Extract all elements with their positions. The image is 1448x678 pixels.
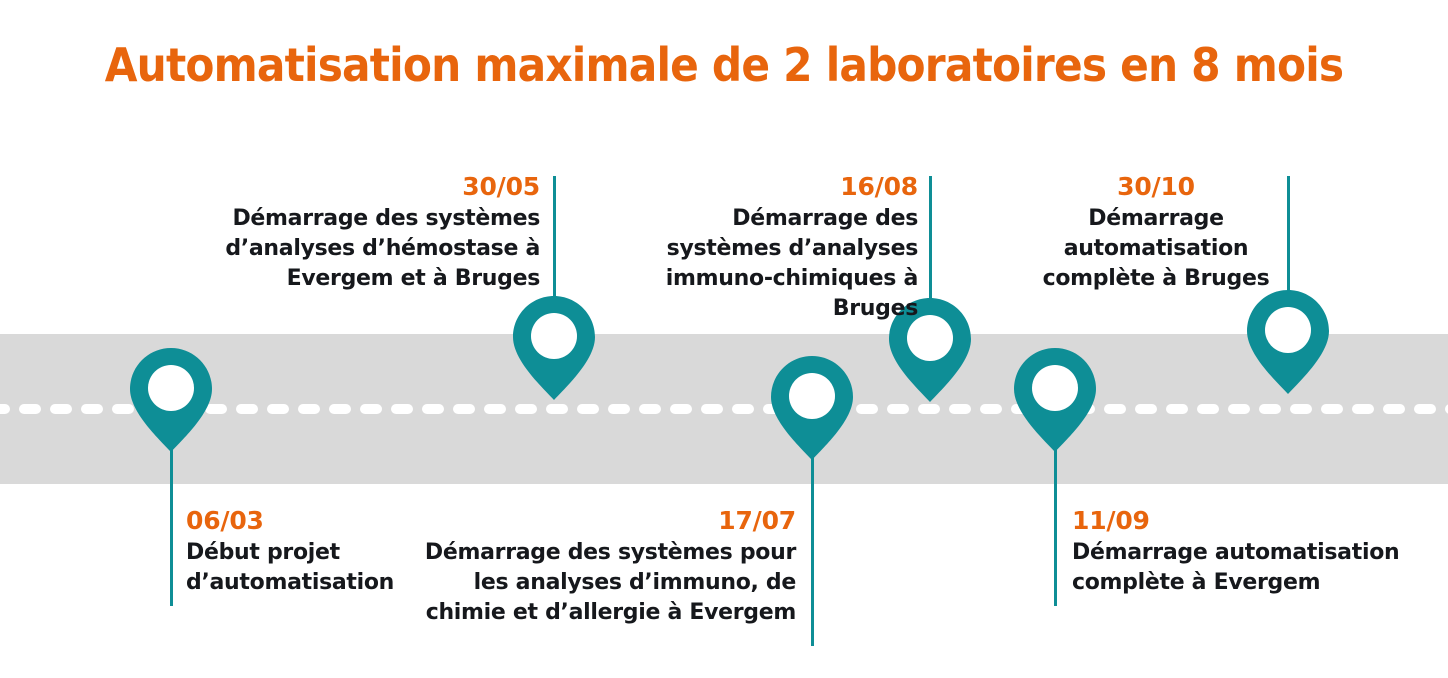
road-dash — [267, 404, 289, 414]
road-dash — [81, 404, 103, 414]
road-dash — [1228, 404, 1250, 414]
road-dash — [1135, 404, 1157, 414]
page-title: Automatisation maximale de 2 laboratoire… — [58, 38, 1390, 92]
connector-stem-30-05 — [553, 176, 556, 316]
map-pin-17-07 — [771, 356, 853, 460]
road-dash — [887, 404, 909, 414]
milestone-label-30-10: 30/10 Démarrage automatisation complète … — [1036, 170, 1276, 294]
milestone-label-30-05: 30/05 Démarrage des systèmes d’analyses … — [120, 170, 540, 294]
road-dash — [732, 404, 754, 414]
road-dash — [1259, 404, 1281, 414]
road-dash — [701, 404, 723, 414]
road-dash — [19, 404, 41, 414]
connector-stem-06-03 — [170, 448, 173, 606]
connector-stem-11-09 — [1054, 448, 1057, 606]
road-dash — [1166, 404, 1188, 414]
map-pin-11-09 — [1014, 348, 1096, 452]
road-dash — [918, 404, 940, 414]
milestone-label-17-07: 17/07 Démarrage des systèmes pour les an… — [400, 504, 796, 628]
road-dash — [1414, 404, 1436, 414]
milestone-date: 11/09 — [1072, 504, 1402, 538]
road-dash — [577, 404, 599, 414]
road-dash — [0, 404, 10, 414]
connector-stem-30-10 — [1287, 176, 1290, 292]
milestone-date: 30/10 — [1036, 170, 1276, 204]
road-dash — [1352, 404, 1374, 414]
milestone-text: Démarrage automatisation complète à Ever… — [1072, 538, 1402, 598]
road-dash — [856, 404, 878, 414]
milestone-date: 17/07 — [400, 504, 796, 538]
road-dash — [484, 404, 506, 414]
road-dash — [329, 404, 351, 414]
milestone-text: Démarrage des systèmes d’analyses immuno… — [620, 204, 918, 324]
road-dash — [608, 404, 630, 414]
milestone-text: Démarrage automatisation complète à Brug… — [1036, 204, 1276, 294]
road-dash — [360, 404, 382, 414]
map-pin-30-05 — [513, 296, 595, 400]
road-dash — [422, 404, 444, 414]
connector-stem-16-08 — [929, 176, 932, 300]
milestone-date: 30/05 — [120, 170, 540, 204]
map-pin-06-03 — [130, 348, 212, 452]
timeline-infographic: Automatisation maximale de 2 laboratoire… — [0, 0, 1448, 678]
road-dash — [670, 404, 692, 414]
connector-stem-17-07 — [811, 456, 814, 646]
milestone-label-11-09: 11/09 Démarrage automatisation complète … — [1072, 504, 1402, 598]
milestone-text: Démarrage des systèmes pour les analyses… — [400, 538, 796, 628]
milestone-label-16-08: 16/08 Démarrage des systèmes d’analyses … — [620, 170, 918, 324]
road-dash — [298, 404, 320, 414]
road-dash — [391, 404, 413, 414]
road-dash — [980, 404, 1002, 414]
road-dash — [453, 404, 475, 414]
road-dash — [1197, 404, 1219, 414]
road-dash — [1321, 404, 1343, 414]
road-dash — [1290, 404, 1312, 414]
milestone-text: Démarrage des systèmes d’analyses d’hémo… — [120, 204, 540, 294]
road-dash — [515, 404, 537, 414]
road-dash — [236, 404, 258, 414]
road-dash — [50, 404, 72, 414]
road-center-dashes — [0, 404, 1448, 414]
map-pin-30-10 — [1247, 290, 1329, 394]
milestone-date: 16/08 — [620, 170, 918, 204]
road-dash — [1104, 404, 1126, 414]
road-dash — [949, 404, 971, 414]
road-dash — [546, 404, 568, 414]
road-dash — [1383, 404, 1405, 414]
road-dash — [639, 404, 661, 414]
